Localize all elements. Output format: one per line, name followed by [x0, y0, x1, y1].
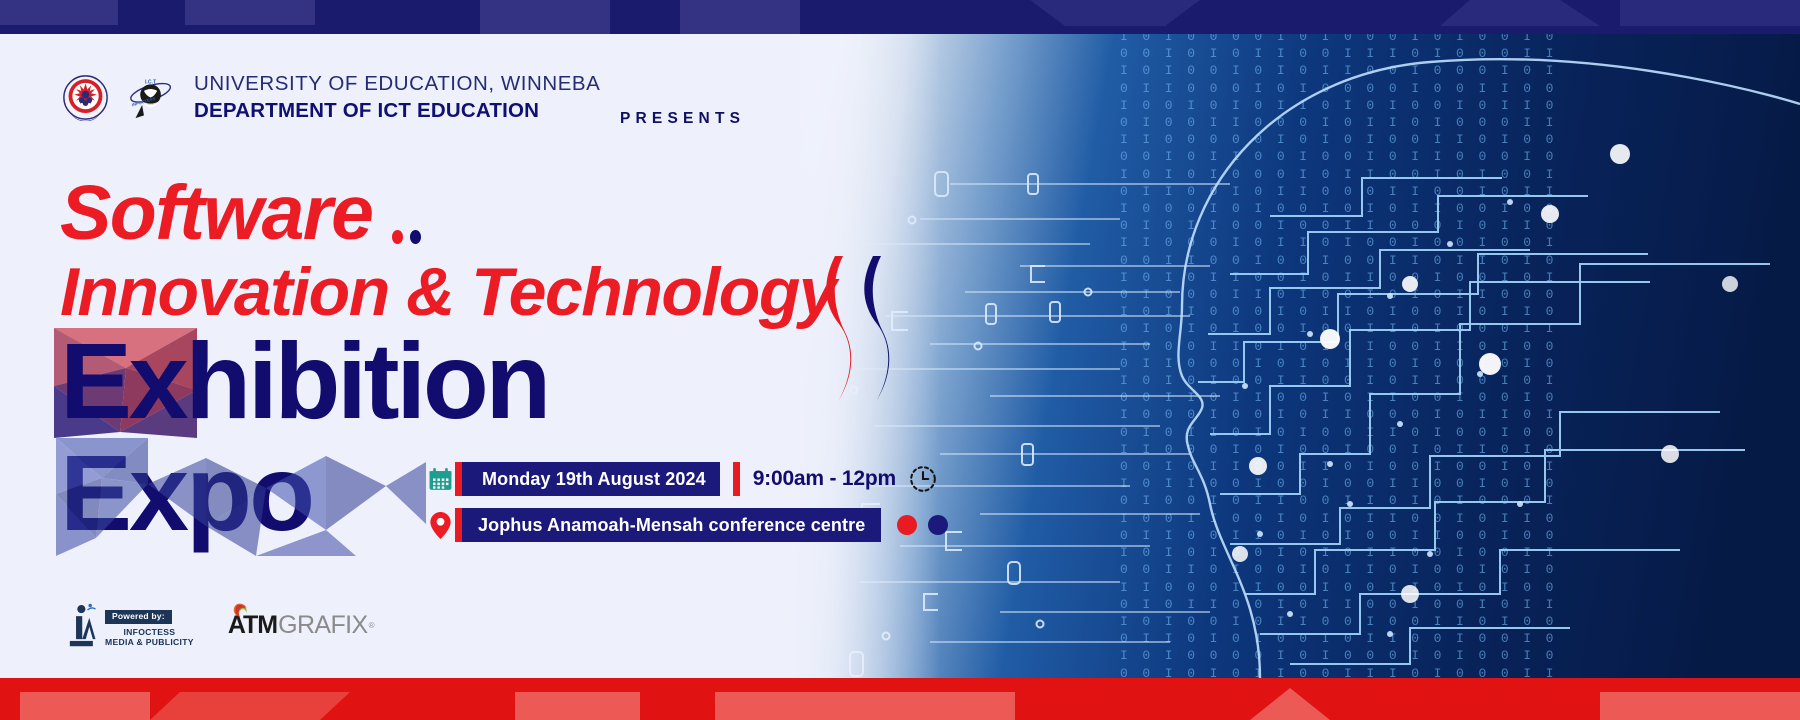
title-exhibition-text: Exhibition	[60, 324, 835, 437]
ai-head-artwork: I 0 I 0 0 0 0 I 0 I 0 0 0 I 0 I 0 0 I 0 …	[790, 34, 1800, 678]
venue-chip: Jophus Anamoah-Mensah conference centre	[462, 508, 881, 542]
time-text: 9:00am - 12pm	[753, 467, 896, 491]
organisation-header: I.C.T INFOCTESS UNIVERSITY OF EDUCATION,…	[62, 72, 600, 123]
end-dots	[897, 515, 948, 535]
atm-swirl-icon	[230, 602, 249, 621]
date-time-row: Monday 19th August 2024 9:00am - 12pm	[425, 462, 948, 496]
dot-red	[392, 230, 403, 244]
event-banner: I 0 I 0 0 0 0 I 0 I 0 0 0 I 0 I 0 0 I 0 …	[0, 0, 1800, 720]
atm-registered-mark: ®	[369, 621, 375, 630]
location-icon-slot	[425, 512, 455, 539]
dot-navy	[410, 230, 421, 244]
date-red-accent	[455, 462, 462, 496]
title-dots	[392, 183, 428, 254]
infoctess-person-icon	[66, 602, 102, 648]
ict-globe-icon: I.C.T INFOCTESS	[123, 74, 180, 121]
presents-label: PRESENTS	[620, 110, 745, 128]
head-profile-icon	[790, 34, 1800, 678]
title-line-innovation: Innovation & Technology	[60, 258, 835, 326]
end-dot-navy	[928, 515, 948, 535]
event-details-group: Monday 19th August 2024 9:00am - 12pm	[425, 462, 948, 542]
powered-by-badge: Powered by:	[105, 610, 172, 624]
ribbon-swoosh-icon	[795, 248, 915, 408]
uew-crest-icon	[62, 74, 109, 121]
end-dot-red	[897, 515, 917, 535]
location-pin-icon	[430, 512, 451, 539]
title-line-exhibition-row: Exhibition	[60, 324, 835, 442]
top-decorative-bar	[0, 0, 1800, 34]
title-expo-text: Expo	[60, 436, 312, 549]
infoctess-name: INFOCTESS MEDIA & PUBLICITY	[105, 627, 194, 648]
bottom-decorative-bar	[0, 678, 1800, 720]
atmgrafix-logo: ATMGRAFIX®	[228, 611, 375, 640]
venue-red-accent	[455, 508, 462, 542]
date-chip: Monday 19th August 2024	[462, 462, 720, 496]
infoctess-name-line1: INFOCTESS	[105, 627, 194, 638]
university-name: UNIVERSITY OF EDUCATION, WINNEBA	[194, 72, 600, 97]
top-pattern-svg	[0, 0, 1800, 34]
infoctess-text: Powered by: INFOCTESS MEDIA & PUBLICITY	[105, 607, 194, 648]
calendar-icon-slot	[425, 467, 455, 492]
title-software-text: Software	[60, 170, 372, 256]
sponsor-logos: Powered by: INFOCTESS MEDIA & PUBLICITY …	[66, 602, 374, 648]
venue-row: Jophus Anamoah-Mensah conference centre	[425, 508, 948, 542]
title-line-software: Software	[60, 178, 835, 254]
department-name: DEPARTMENT OF ICT EDUCATION	[194, 99, 600, 124]
infoctess-name-line2: MEDIA & PUBLICITY	[105, 637, 194, 648]
time-red-accent	[733, 462, 740, 496]
svg-text:I.C.T: I.C.T	[145, 79, 157, 85]
organisation-name: UNIVERSITY OF EDUCATION, WINNEBA DEPARTM…	[194, 72, 600, 123]
clock-icon	[908, 464, 938, 494]
calendar-icon	[428, 467, 453, 492]
bottom-pattern-svg	[0, 678, 1800, 720]
infoctess-logo: Powered by: INFOCTESS MEDIA & PUBLICITY	[66, 602, 194, 648]
atm-light-text: GRAFIX	[278, 611, 367, 640]
